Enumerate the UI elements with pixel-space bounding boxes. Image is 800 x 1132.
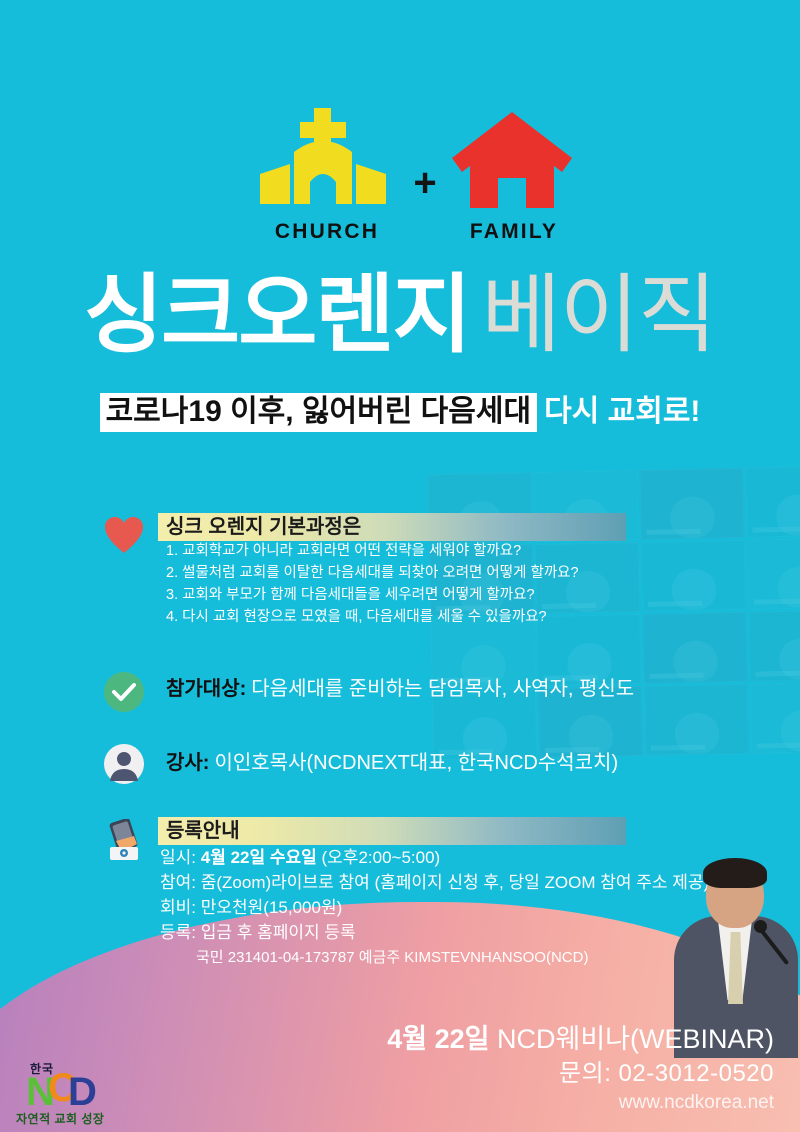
reg-label-3: 등록: [160, 923, 196, 942]
audience-value: 다음세대를 준비하는 담임목사, 사역자, 평신도 [246, 678, 634, 700]
section-heading-registration: 등록안내 [158, 817, 626, 845]
section-heading-course: 싱크 오렌지 기본과정은 [158, 513, 626, 541]
audience-line: 참가대상:다음세대를 준비하는 담임목사, 사역자, 평신도 [166, 677, 634, 701]
poster-root: + CHURCH FAMILY 싱크오렌지베이직 코로나19 이후, 잃어버린 … [0, 0, 800, 1132]
reg-rest-1: 줌(Zoom)라이브로 참여 (홈페이지 신청 후, 당일 ZOOM 참여 주소… [201, 873, 709, 892]
footer-contact: 문의: 02-3012-0520 [387, 1060, 774, 1088]
logo-tagline: 자연적 교회 성장 [16, 1110, 104, 1127]
section-audience: 참가대상:다음세대를 준비하는 담임목사, 사역자, 평신도 [0, 655, 800, 729]
list-item: 일시: 4월 22일 수요일 (오후2:00~5:00) [160, 845, 709, 870]
hand-phone-icon [104, 819, 150, 865]
list-item: 3. 교회와 부모가 함께 다음세대들을 세우려면 어떻게 할까요? [166, 585, 579, 606]
bank-account-line: 국민 231401-04-173787 예금주 KIMSTEVNHANSOO(N… [160, 945, 709, 970]
title-bold-part: 싱크오렌지 [84, 267, 470, 363]
family-house-icon [450, 110, 574, 214]
microphone-head-icon [754, 920, 767, 933]
reg-label-1: 참여: [160, 873, 196, 892]
subtitle-tail: 다시 교회로! [537, 395, 700, 428]
footer-event-name: NCD웨비나(WEBINAR) [497, 1024, 774, 1054]
reg-rest-3: 입금 후 홈페이지 등록 [201, 923, 356, 942]
reg-label-2: 회비: [160, 898, 196, 917]
footer-website[interactable]: www.ncdkorea.net [387, 1092, 774, 1114]
course-question-list: 1. 교회학교가 아니라 교회라면 어떤 전략을 세워야 할까요? 2. 썰물처… [166, 541, 579, 629]
reg-bold-0: 4월 22일 수요일 [201, 848, 317, 867]
footer-event: 4월 22일 NCD웨비나(WEBINAR) [387, 1024, 774, 1056]
section-speaker: 강사:이인호목사(NCDNEXT대표, 한국NCD수석코치) [0, 729, 800, 811]
list-item: 1. 교회학교가 아니라 교회라면 어떤 전략을 세워야 할까요? [166, 541, 579, 562]
person-circle-icon [103, 743, 145, 785]
speaker-value: 이인호목사(NCDNEXT대표, 한국NCD수석코치) [209, 752, 618, 774]
reg-rest-0: (오후2:00~5:00) [322, 848, 441, 867]
speaker-hair [703, 858, 767, 888]
church-family-icon-row: + CHURCH FAMILY [0, 108, 800, 258]
list-item: 2. 썰물처럼 교회를 이탈한 다음세대를 되찾아 오려면 어떻게 할까요? [166, 563, 579, 584]
footer-event-date: 4월 22일 [387, 1024, 489, 1054]
speaker-label: 강사: [166, 752, 209, 774]
page-title: 싱크오렌지베이직 [0, 272, 800, 358]
list-item: 참여: 줌(Zoom)라이브로 참여 (홈페이지 신청 후, 당일 ZOOM 참… [160, 870, 709, 895]
subtitle-highlight: 코로나19 이후, 잃어버린 다음세대 [100, 393, 538, 432]
church-icon [258, 108, 388, 214]
heart-icon [103, 515, 145, 557]
title-light-part: 베이직 [482, 267, 716, 363]
audience-label: 참가대상: [166, 678, 246, 700]
section-course-overview: 싱크 오렌지 기본과정은 1. 교회학교가 아니라 교회라면 어떤 전략을 세워… [0, 505, 800, 655]
list-item: 회비: 만오천원(15,000원) [160, 895, 709, 920]
reg-rest-2: 만오천원(15,000원) [201, 898, 343, 917]
plus-icon: + [408, 166, 442, 200]
list-item: 4. 다시 교회 현장으로 모였을 때, 다음세대를 세울 수 있을까요? [166, 607, 579, 628]
logo-letter-d: D [68, 1072, 97, 1112]
reg-label-0: 일시: [160, 848, 196, 867]
registration-detail-list: 일시: 4월 22일 수요일 (오후2:00~5:00) 참여: 줌(Zoom)… [160, 845, 709, 970]
check-circle-icon [103, 671, 145, 713]
speaker-line: 강사:이인호목사(NCDNEXT대표, 한국NCD수석코치) [166, 751, 618, 775]
church-label: CHURCH [262, 220, 392, 244]
footer-info: 4월 22일 NCD웨비나(WEBINAR) 문의: 02-3012-0520 … [387, 1024, 774, 1114]
family-label: FAMILY [452, 220, 576, 244]
list-item: 등록: 입금 후 홈페이지 등록 [160, 920, 709, 945]
ncd-logo: 한국 N C D 자연적 교회 성장 [10, 1060, 120, 1124]
subtitle: 코로나19 이후, 잃어버린 다음세대다시 교회로! [0, 393, 800, 431]
